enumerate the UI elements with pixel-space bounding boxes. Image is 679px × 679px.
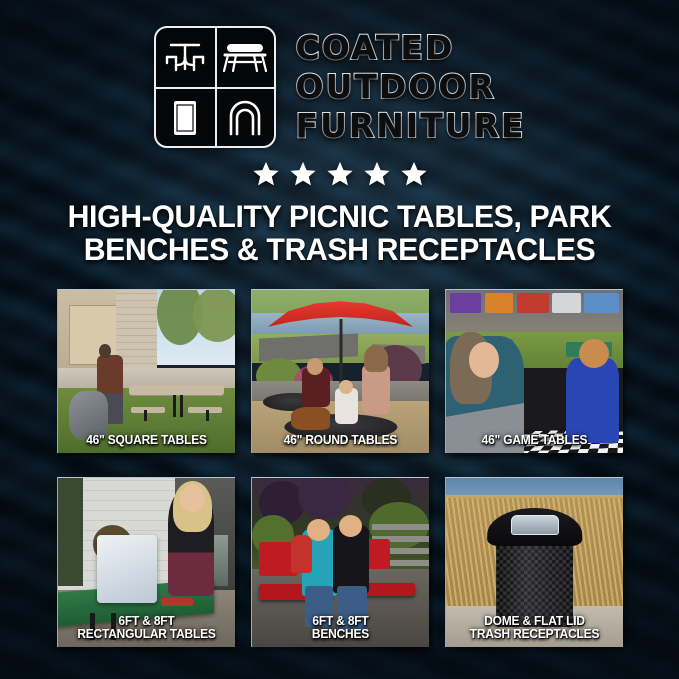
caption-line-1: 6FT & 8FT	[259, 615, 421, 629]
product-caption: 46" SQUARE TABLES	[62, 434, 230, 448]
caption-line-1: DOME & FLAT LID	[453, 615, 615, 629]
star-icon	[400, 160, 428, 188]
product-caption: DOME & FLAT LID TRASH RECEPTACLES	[450, 615, 618, 642]
trash-receptacle-icon	[156, 87, 215, 146]
star-icon	[363, 160, 391, 188]
star-icon	[252, 160, 280, 188]
bike-rack-arch-icon	[215, 87, 274, 146]
page-title: HIGH-QUALITY PICNIC TABLES, PARK BENCHES…	[40, 200, 638, 266]
caption-line-1: 46" GAME TABLES	[453, 434, 615, 448]
headline-line-1: HIGH-QUALITY PICNIC TABLES, PARK	[40, 200, 638, 233]
caption-line-1: 46" SQUARE TABLES	[65, 434, 227, 448]
brand-name-line-3: FURNITURE	[296, 107, 526, 145]
caption-line-2: TRASH RECEPTACLES	[453, 628, 615, 642]
caption-line-1: 46" ROUND TABLES	[259, 434, 421, 448]
star-icon	[326, 160, 354, 188]
product-tile-trash-receptacles[interactable]: DOME & FLAT LID TRASH RECEPTACLES	[445, 477, 623, 647]
product-caption: 46" GAME TABLES	[450, 434, 618, 448]
product-grid: 46" SQUARE TABLES	[57, 289, 623, 647]
product-caption: 6FT & 8FT RECTANGULAR TABLES	[62, 615, 230, 642]
caption-line-2: RECTANGULAR TABLES	[65, 628, 227, 642]
caption-line-2: BENCHES	[259, 628, 421, 642]
brand-logo: COATED OUTDOOR FURNITURE	[0, 26, 679, 148]
logo-icon-grid	[154, 26, 276, 148]
brand-name: COATED OUTDOOR FURNITURE	[296, 29, 526, 145]
park-bench-icon	[215, 28, 274, 87]
product-tile-round-tables[interactable]: 46" ROUND TABLES	[251, 289, 429, 453]
star-rating	[0, 160, 679, 188]
headline-line-2: BENCHES & TRASH RECEPTACLES	[40, 233, 638, 266]
product-photo	[252, 290, 429, 453]
product-caption: 46" ROUND TABLES	[256, 434, 424, 448]
product-tile-rectangular-tables[interactable]: 6FT & 8FT RECTANGULAR TABLES	[57, 477, 235, 647]
brand-name-line-1: COATED	[296, 29, 526, 67]
picnic-table-icon	[156, 28, 215, 87]
star-icon	[289, 160, 317, 188]
product-photo	[446, 290, 623, 453]
caption-line-1: 6FT & 8FT	[65, 615, 227, 629]
product-caption: 6FT & 8FT BENCHES	[256, 615, 424, 642]
product-photo	[58, 290, 235, 453]
product-tile-game-tables[interactable]: 46" GAME TABLES	[445, 289, 623, 453]
product-tile-square-tables[interactable]: 46" SQUARE TABLES	[57, 289, 235, 453]
product-tile-benches[interactable]: 6FT & 8FT BENCHES	[251, 477, 429, 647]
marketing-banner: COATED OUTDOOR FURNITURE HIGH-QUALITY PI…	[0, 0, 679, 679]
brand-name-line-2: OUTDOOR	[296, 68, 526, 106]
